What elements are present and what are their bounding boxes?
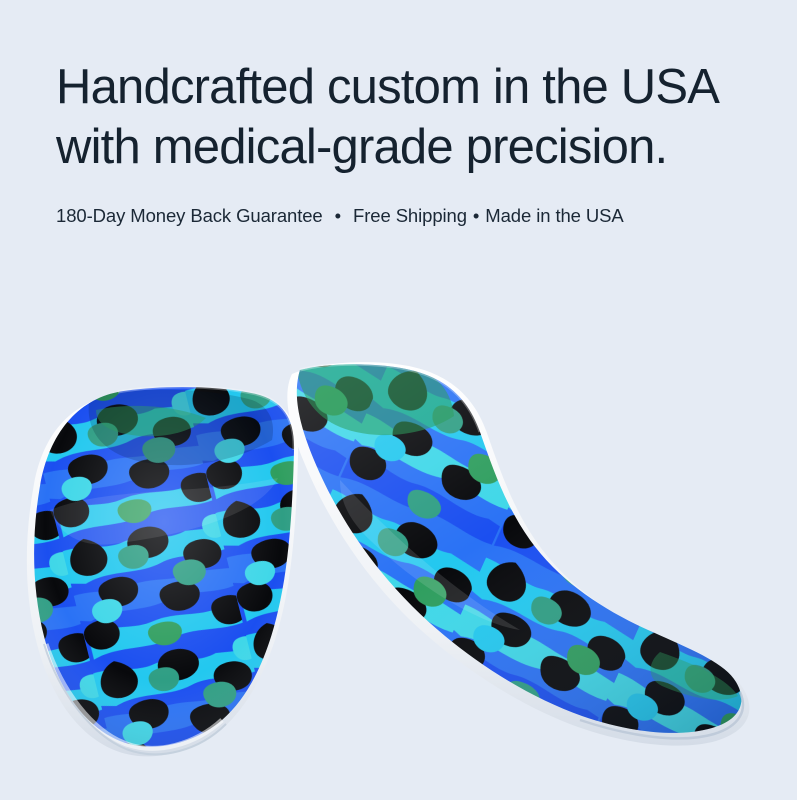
headline-line-2: with medical-grade precision. [56, 117, 756, 177]
benefit-separator-2: • [467, 204, 485, 228]
benefit-free-shipping: Free Shipping [353, 205, 467, 226]
headline-line-1: Handcrafted custom in the USA [56, 57, 756, 117]
benefits-line: 180-Day Money Back Guarantee•Free Shippi… [56, 177, 756, 228]
hero-copy-block: Handcrafted custom in the USA with medic… [56, 57, 756, 228]
promo-panel: Handcrafted custom in the USA with medic… [0, 0, 797, 800]
benefit-money-back-guarantee: 180-Day Money Back Guarantee [56, 205, 323, 226]
product-image [0, 300, 797, 800]
benefit-made-in-usa: Made in the USA [485, 205, 623, 226]
insoles-illustration [0, 300, 797, 800]
benefit-separator-1: • [323, 204, 353, 228]
page-title: Handcrafted custom in the USA with medic… [56, 57, 756, 177]
